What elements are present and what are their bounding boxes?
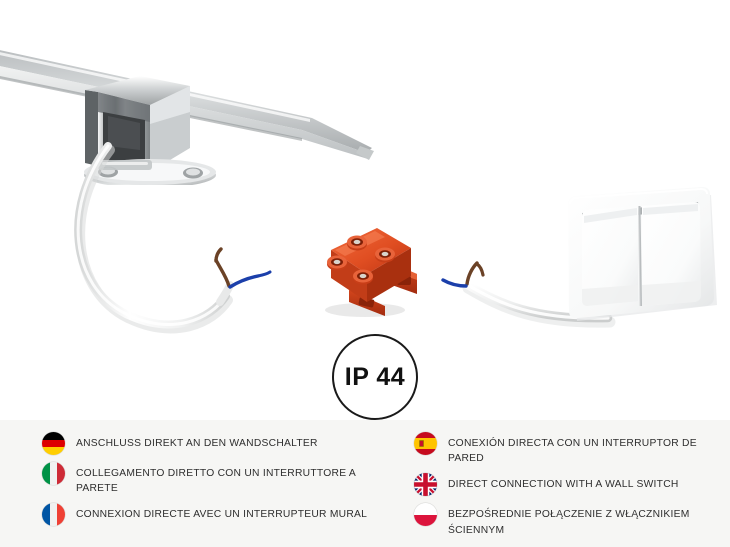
language-row-it: COLLEGAMENTO DIRETTO CON UN INTERRUTTORE… <box>42 464 400 496</box>
flag-italy-icon <box>42 462 65 485</box>
installation-diagram: IP 44 <box>0 0 730 420</box>
language-row-en: DIRECT CONNECTION WITH A WALL SWITCH <box>414 475 730 496</box>
flag-germany-icon <box>42 432 65 455</box>
translations-footer: ANSCHLUSS DIREKT AN DEN WANDSCHALTER COL… <box>0 420 730 547</box>
ip-rating-label: IP 44 <box>345 365 405 390</box>
language-text-fr: CONNEXION DIRECTE AVEC UN INTERRUPTEUR M… <box>76 505 367 522</box>
translations-column-left: ANSCHLUSS DIREKT AN DEN WANDSCHALTER COL… <box>0 434 400 547</box>
language-text-es: CONEXIÓN DIRECTA CON UN INTERRUPTOR DE P… <box>448 434 730 466</box>
luminaire-supply-cable <box>70 140 280 340</box>
ip-rating-badge: IP 44 <box>332 334 418 420</box>
language-text-en: DIRECT CONNECTION WITH A WALL SWITCH <box>448 475 679 492</box>
wall-switch <box>558 185 718 325</box>
language-text-it: COLLEGAMENTO DIRETTO CON UN INTERRUTTORE… <box>76 464 376 496</box>
translations-column-right: CONEXIÓN DIRECTA CON UN INTERRUPTOR DE P… <box>400 434 730 547</box>
flag-united-kingdom-icon <box>414 473 437 496</box>
language-row-es: CONEXIÓN DIRECTA CON UN INTERRUPTOR DE P… <box>414 434 730 466</box>
language-row-de: ANSCHLUSS DIREKT AN DEN WANDSCHALTER <box>42 434 400 455</box>
terminal-connector-block <box>305 212 425 322</box>
language-row-pl: BEZPOŚREDNIE POŁĄCZENIE Z WŁĄCZNIKIEM ŚC… <box>414 505 730 537</box>
language-text-pl: BEZPOŚREDNIE POŁĄCZENIE Z WŁĄCZNIKIEM ŚC… <box>448 505 730 537</box>
product-instruction-image: IP 44 ANSCHLUSS DIREKT AN DEN WANDSCHALT… <box>0 0 730 547</box>
language-text-de: ANSCHLUSS DIREKT AN DEN WANDSCHALTER <box>76 434 318 451</box>
flag-poland-icon <box>414 503 437 526</box>
language-row-fr: CONNEXION DIRECTE AVEC UN INTERRUPTEUR M… <box>42 505 400 526</box>
flag-france-icon <box>42 503 65 526</box>
flag-spain-icon <box>414 432 437 455</box>
